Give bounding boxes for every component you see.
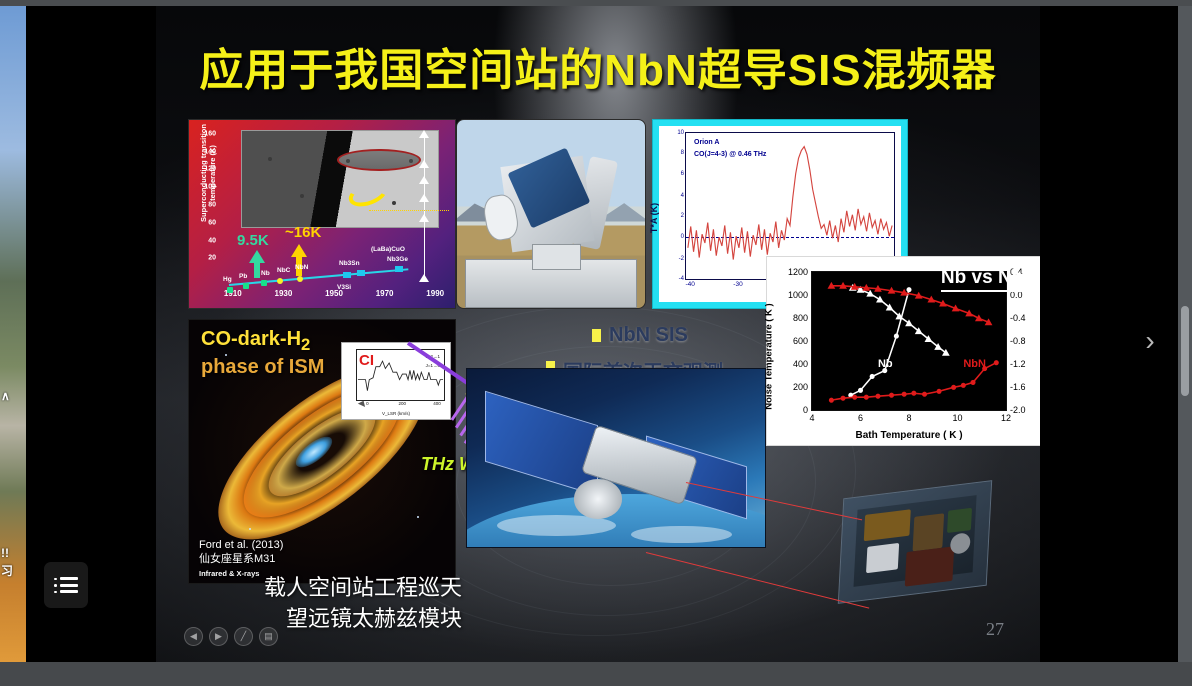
ci-xtick: 200	[398, 401, 406, 406]
nbn-plot-area: 1200 1000 800 600 400 200 0 0.4 0.0 -0.4…	[811, 271, 1007, 411]
tc-ytick: 100	[204, 184, 216, 191]
nbn-ytick-right: -0.4	[1010, 313, 1026, 323]
tc-ytick: 40	[208, 237, 216, 244]
tc-point-label: NbN	[295, 264, 308, 271]
vertical-scrollbar[interactable]	[1178, 6, 1192, 662]
sem-highlight-ellipse	[337, 149, 421, 171]
square-bullet-icon	[592, 329, 601, 342]
orion-ylabel: T*A (K)	[649, 202, 659, 232]
orion-ytick: -2	[679, 256, 684, 262]
galaxy-m31-image: CO-dark-H2 phase of ISM Ford et al. (201…	[188, 319, 456, 584]
galaxy-label-subscript: 2	[301, 335, 310, 354]
slide-caption: 载人空间站工程巡天 望远镜太赫兹模块	[222, 573, 462, 634]
tc-point-label: Nb3Ge	[387, 256, 408, 263]
nbn-series-traces	[812, 272, 1006, 410]
nbn-ytick-right: -1.6	[1010, 382, 1026, 392]
nbn-xtick: 4	[809, 413, 814, 423]
nbn-xtick: 10	[952, 413, 962, 423]
tc-ytick: 120	[204, 166, 216, 173]
nbn-ytick-left: 400	[793, 359, 808, 369]
ppt-presenter-toolbar[interactable]: ◀ ▶ ╱ ▤	[184, 627, 278, 646]
presentation-stage[interactable]: › 应用于我国空间站的NbN超导SIS混频器 Superconducting t…	[26, 6, 1178, 662]
tc-history-chart: Superconducting transition temperature (…	[188, 119, 456, 309]
next-slide-arrow[interactable]: ›	[1138, 324, 1162, 358]
desktop-wallpaper-sliver: ∧ !! 习	[0, 6, 26, 662]
orion-ytick: -4	[679, 276, 684, 282]
nbn-ytick-left: 1200	[788, 267, 808, 277]
tc-ytick: 160	[204, 130, 216, 137]
viewer-menu-button[interactable]	[44, 562, 88, 608]
nbn-ytick-left: 0	[803, 405, 808, 415]
galaxy-credit-cn: 仙女座星系M31	[199, 550, 275, 566]
slide-title: 应用于我国空间站的NbN超导SIS混频器	[156, 34, 1040, 98]
bullet-label: NbN SIS	[609, 324, 688, 347]
tc-ytick: 60	[208, 219, 216, 226]
nbn-chart-title: Nb vs NbN	[941, 267, 1037, 292]
wallpaper-text-fragment-1: ∧	[1, 389, 10, 403]
orion-ytick: 2	[681, 213, 684, 219]
window-bottom-bar	[0, 662, 1192, 686]
caption-line-1: 载人空间站工程巡天	[222, 573, 462, 603]
wallpaper-text-fragment-2: !!	[1, 546, 9, 560]
tc-point-label: (LaBa)CuO	[371, 246, 405, 253]
nbn-ytick-left: 800	[793, 313, 808, 323]
tc-annotation-95k: 9.5K	[237, 232, 269, 249]
tc-ytick: 20	[208, 255, 216, 262]
pen-tool-button[interactable]: ╱	[234, 627, 253, 646]
bullet-item: NbN SIS	[546, 324, 766, 347]
cryostat-module-image	[806, 466, 1026, 626]
orion-ytick: 4	[681, 193, 684, 199]
prev-slide-button[interactable]: ◀	[184, 627, 203, 646]
ground-telescope-photo	[456, 119, 646, 309]
ci-xtick: 400	[433, 401, 441, 406]
nbn-ytick-right: -2.0	[1010, 405, 1026, 415]
scrollbar-thumb[interactable]	[1181, 306, 1189, 396]
wallpaper-text-fragment-3: 习	[1, 562, 13, 579]
tc-point-label: V3Si	[337, 284, 351, 291]
nbn-xtick: 12	[1001, 413, 1011, 423]
app-root: ∧ !! 习 › 应用于我国空间站的NbN超导SIS混频器 Supercondu…	[0, 0, 1192, 686]
ci-label: CI	[359, 352, 374, 369]
sem-curved-arrow	[345, 177, 390, 211]
nbn-xlabel: Bath Temperature ( K )	[767, 430, 1040, 441]
galaxy-label-line2: phase of ISM	[201, 356, 324, 379]
nbn-ytick-right: -1.2	[1010, 359, 1026, 369]
tc-ytick: 80	[208, 202, 216, 209]
tc-xtick: 1930	[274, 289, 292, 298]
nb-vs-nbn-chart: Nb vs NbN Noise Temperature ( K ) Reduct…	[766, 256, 1040, 446]
ci-inset-chart: J=2→1 J=1→0 0 200 400 CI V_LSR (km/s)	[341, 342, 451, 420]
orion-ytick: 6	[681, 171, 684, 177]
slide-canvas[interactable]: 应用于我国空间站的NbN超导SIS混频器 Superconducting tra…	[156, 6, 1040, 662]
nbn-ytick-left: 600	[793, 336, 808, 346]
orion-ytick: 0	[681, 234, 684, 240]
slide-page-number: 27	[986, 619, 1004, 640]
nbn-xtick: 8	[906, 413, 911, 423]
tc-annotation-16k: ~16K	[285, 224, 321, 241]
space-telescope-image	[466, 368, 766, 548]
ci-xlabel: V_LSR (km/s)	[342, 411, 450, 416]
tc-point-label: Pb	[239, 273, 247, 280]
orion-ytick: 8	[681, 150, 684, 156]
tc-xtick: 1970	[376, 289, 394, 298]
slide-menu-button[interactable]: ▤	[259, 627, 278, 646]
tc-ytick: 140	[204, 148, 216, 155]
nbn-xtick: 6	[858, 413, 863, 423]
next-slide-button[interactable]: ▶	[209, 627, 228, 646]
tc-point-label: Hg	[223, 276, 232, 283]
list-menu-icon	[54, 577, 78, 593]
sem-inset-photo	[241, 130, 439, 228]
tc-chart-plot: 160 140 120 100 80 60 40 20 1910 1930 19…	[219, 124, 449, 286]
tc-point-label: Nb3Sn	[339, 260, 360, 267]
tc-point-label: Nb	[261, 270, 270, 277]
chevron-right-icon: ›	[1145, 325, 1154, 356]
orion-ytick: 10	[677, 130, 684, 136]
galaxy-label-line1: CO-dark-H2	[201, 328, 310, 355]
orion-xtick: -40	[685, 281, 694, 288]
nbn-ytick-left: 1000	[788, 290, 808, 300]
tc-xtick: 1990	[426, 289, 444, 298]
tc-point-label: NbC	[277, 267, 290, 274]
orion-xtick: -30	[733, 281, 742, 288]
nbn-ytick-right: -0.8	[1010, 336, 1026, 346]
nbn-ytick-left: 200	[793, 382, 808, 392]
